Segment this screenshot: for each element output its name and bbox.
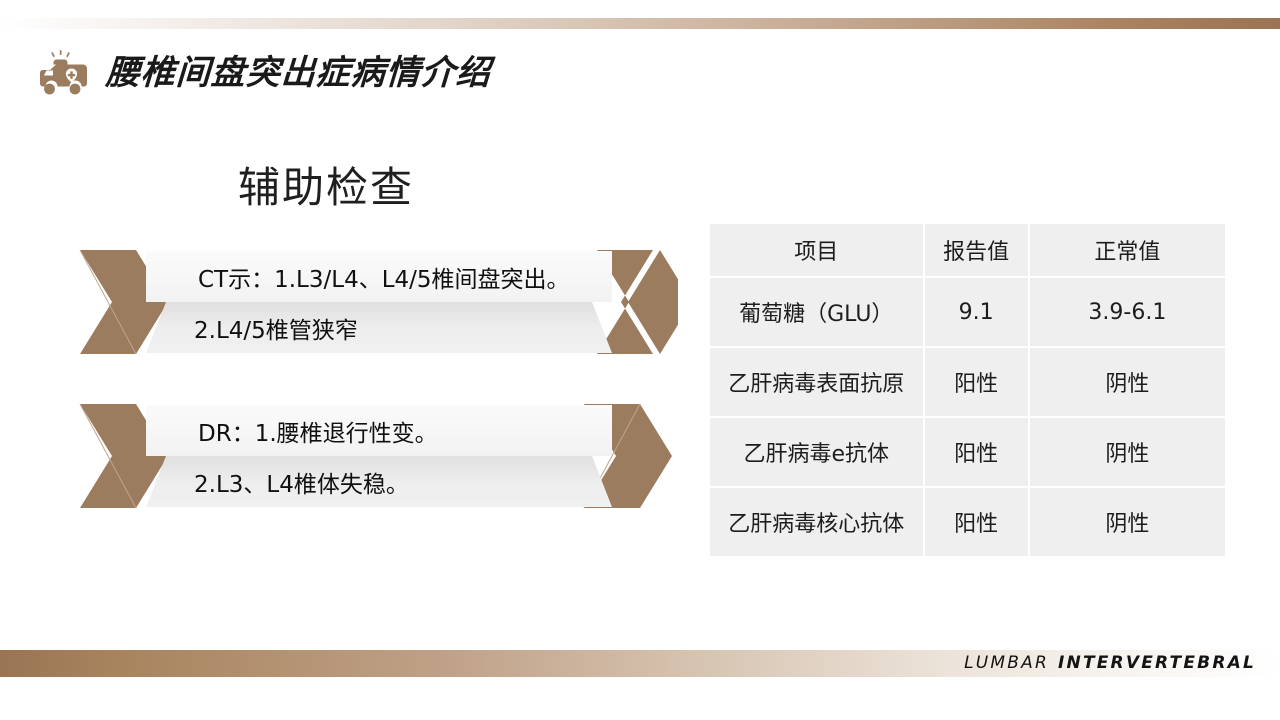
table-row: 葡萄糖（GLU） 9.1 3.9-6.1 [710,278,1225,346]
dr-banner: DR：1.腰椎退行性变。 2.L3、L4椎体失稳。 [78,402,678,510]
footer-word-intervertebral: INTERVERTEBRAL [1058,653,1256,673]
section-title: 辅助检查 [238,163,414,213]
cell-item: 乙肝病毒e抗体 [710,418,923,486]
lab-report-table: 项目 报告值 正常值 葡萄糖（GLU） 9.1 3.9-6.1 乙肝病毒表面抗原… [708,222,1227,558]
cell-item: 葡萄糖（GLU） [710,278,923,346]
slide-canvas: 腰椎间盘突出症病情介绍 辅助检查 CT示：1.L3/L4、L4/5椎间盘突出。 … [0,0,1280,720]
dr-banner-line-1: DR：1.腰椎退行性变。 [146,405,612,456]
ambulance-icon [34,50,92,96]
cell-report: 9.1 [925,278,1028,346]
right-diamond-shape [628,250,678,354]
ct-banner-line-1: CT示：1.L3/L4、L4/5椎间盘突出。 [146,251,612,302]
ct-banner: CT示：1.L3/L4、L4/5椎间盘突出。 2.L4/5椎管狭窄 [78,248,678,356]
dr-banner-body: DR：1.腰椎退行性变。 2.L3、L4椎体失稳。 [146,405,612,507]
footer-brand-text: LUMBARINTERVERTEBRAL [964,652,1256,674]
cell-item: 乙肝病毒核心抗体 [710,488,923,556]
ct-banner-body: CT示：1.L3/L4、L4/5椎间盘突出。 2.L4/5椎管狭窄 [146,251,612,353]
footer-word-lumbar: LUMBAR [964,653,1049,673]
top-gradient-bar [0,18,1280,29]
cell-report: 阳性 [925,488,1028,556]
cell-report: 阳性 [925,348,1028,416]
table-row: 乙肝病毒e抗体 阳性 阴性 [710,418,1225,486]
table-header-normal: 正常值 [1030,224,1225,276]
dr-banner-line-2: 2.L3、L4椎体失稳。 [146,456,612,507]
cell-report: 阳性 [925,418,1028,486]
table-header-item: 项目 [710,224,923,276]
cell-item: 乙肝病毒表面抗原 [710,348,923,416]
table-header-row: 项目 报告值 正常值 [710,224,1225,276]
page-title: 腰椎间盘突出症病情介绍 [105,56,492,90]
table-header-report: 报告值 [925,224,1028,276]
table-row: 乙肝病毒表面抗原 阳性 阴性 [710,348,1225,416]
cell-normal: 阴性 [1030,348,1225,416]
ct-banner-line-2: 2.L4/5椎管狭窄 [146,302,612,353]
cell-normal: 阴性 [1030,418,1225,486]
table-row: 乙肝病毒核心抗体 阳性 阴性 [710,488,1225,556]
slide-header: 腰椎间盘突出症病情介绍 [34,44,491,102]
cell-normal: 3.9-6.1 [1030,278,1225,346]
cell-normal: 阴性 [1030,488,1225,556]
